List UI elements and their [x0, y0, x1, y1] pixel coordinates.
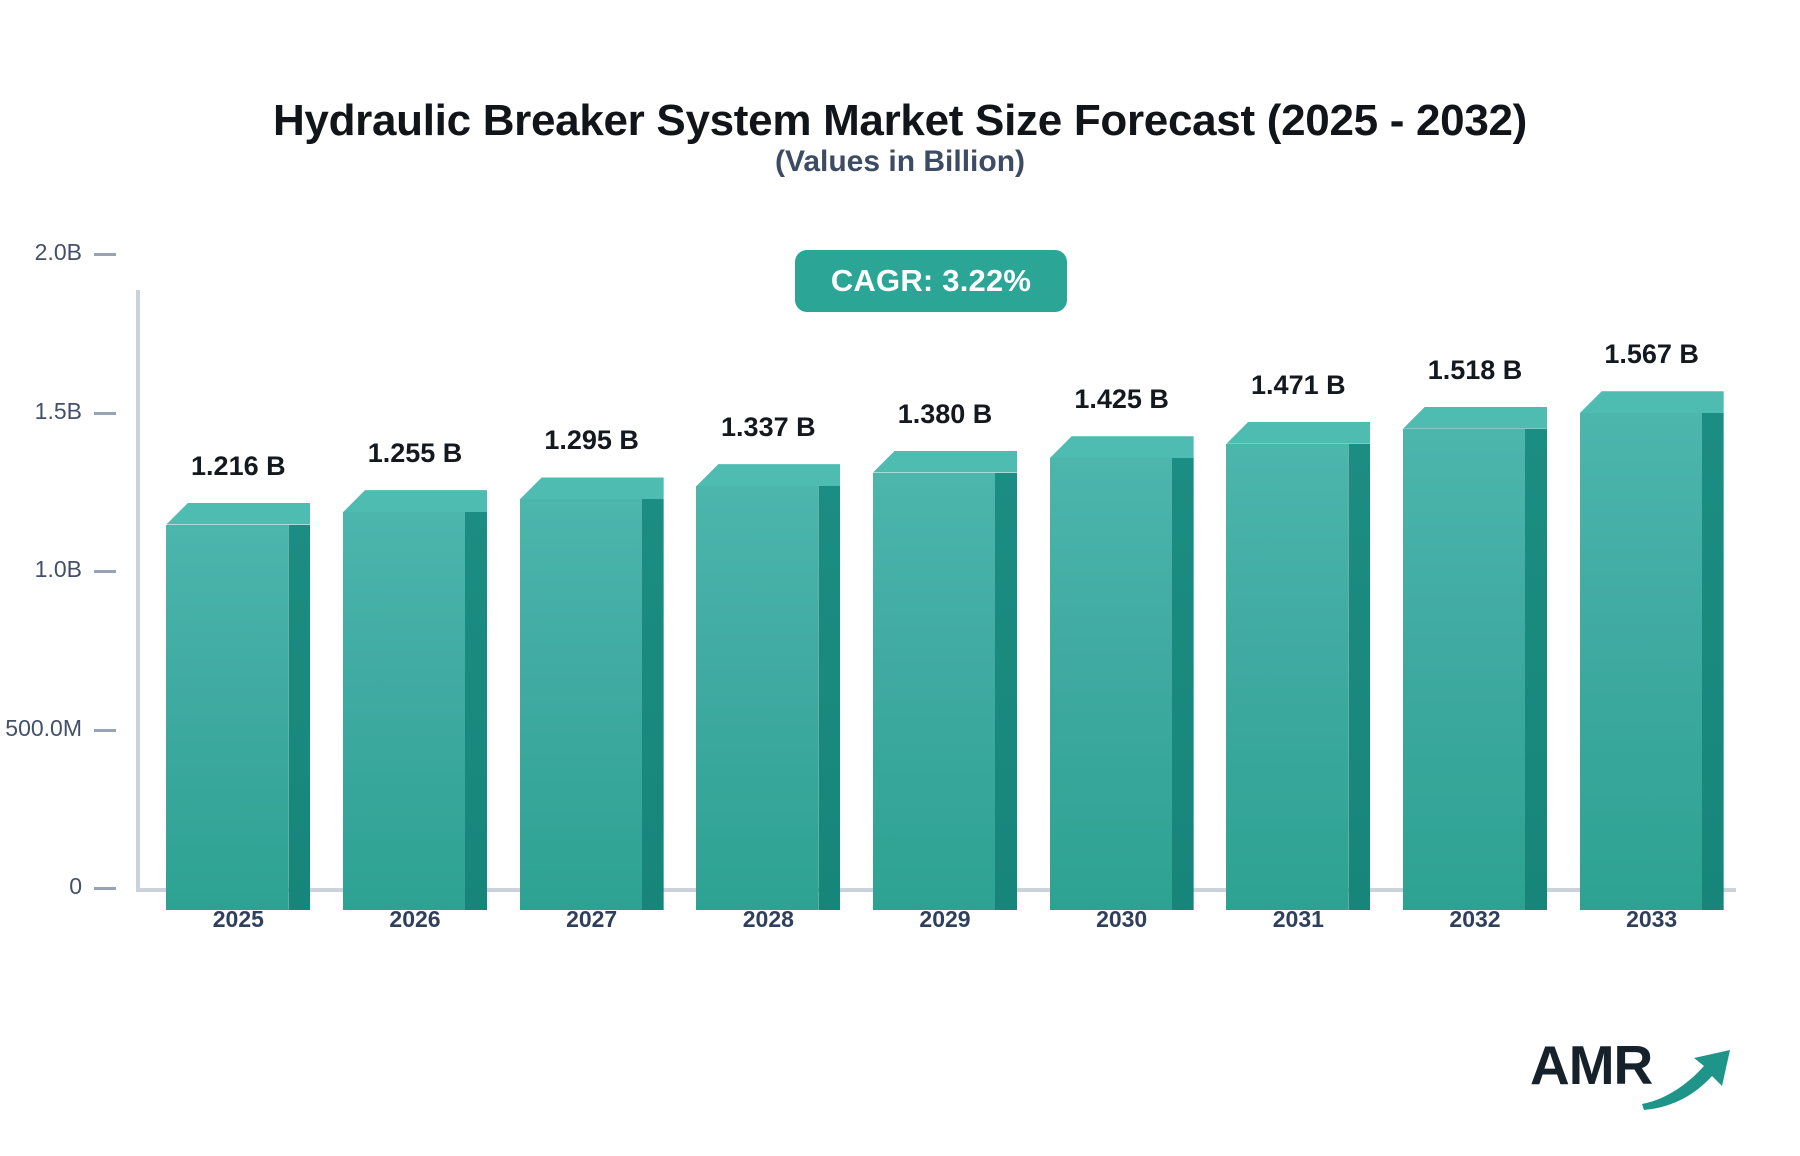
bar-side-face	[1702, 413, 1724, 910]
bar-front-face	[1050, 458, 1172, 910]
chart-canvas: Hydraulic Breaker System Market Size For…	[0, 0, 1800, 1156]
bar-top-face	[343, 490, 487, 512]
bar-side-face	[995, 473, 1017, 910]
bar-front-face	[1403, 429, 1525, 910]
x-axis-tick-label: 2027	[512, 906, 672, 933]
bar-value-label: 1.295 B	[492, 425, 692, 456]
bar-front-face	[873, 473, 995, 910]
bar-top-face	[696, 464, 840, 486]
x-axis-tick-label: 2031	[1218, 906, 1378, 933]
bar-side-face	[288, 525, 310, 910]
x-axis-tick-label: 2025	[158, 906, 318, 933]
bar-top-face	[1226, 422, 1370, 444]
growth-arrow-icon	[1638, 1042, 1734, 1112]
bar-top-face	[1050, 436, 1194, 458]
bar-front-face	[1226, 444, 1348, 910]
bar-side-face	[642, 499, 664, 910]
bar-value-label: 1.216 B	[138, 451, 338, 482]
bar-side-face	[1348, 444, 1370, 910]
bar-front-face	[1580, 413, 1702, 910]
plot-area: 0500.0M1.0B1.5B2.0B 1.216 B1.255 B1.295 …	[0, 0, 1800, 1156]
bar-value-label: 1.255 B	[315, 438, 515, 469]
bar[interactable]	[1050, 436, 1194, 888]
bar[interactable]	[873, 451, 1017, 888]
x-axis-tick-label: 2029	[865, 906, 1025, 933]
y-axis-tick-mark	[94, 253, 116, 256]
bar-value-label: 1.471 B	[1198, 370, 1398, 401]
y-axis-tick-label: 0	[0, 873, 82, 900]
bar-side-face	[1172, 458, 1194, 910]
bar-front-face	[520, 499, 642, 910]
bar-side-face	[465, 512, 487, 910]
x-axis-tick-label: 2028	[688, 906, 848, 933]
x-axis-tick-label: 2026	[335, 906, 495, 933]
bar-side-face	[1525, 429, 1547, 910]
bar-top-face	[166, 503, 310, 525]
bar-front-face	[166, 525, 288, 910]
y-axis-line	[136, 290, 140, 890]
amr-logo-text: AMR	[1530, 1038, 1652, 1093]
y-axis-tick-mark	[94, 570, 116, 573]
bar-value-label: 1.380 B	[845, 399, 1045, 430]
bar-front-face	[343, 512, 465, 910]
bar-top-face	[1403, 407, 1547, 429]
x-axis-tick-label: 2032	[1395, 906, 1555, 933]
y-axis-tick-label: 1.5B	[0, 398, 82, 425]
bar[interactable]	[343, 490, 487, 888]
bar-front-face	[696, 486, 818, 910]
bar-value-label: 1.518 B	[1375, 355, 1575, 386]
amr-logo: AMR	[1530, 1032, 1730, 1112]
bar-top-face	[1580, 391, 1724, 413]
y-axis-tick-mark	[94, 887, 116, 890]
bar[interactable]	[1226, 422, 1370, 888]
y-axis-tick-label: 500.0M	[0, 715, 82, 742]
bar[interactable]	[696, 464, 840, 888]
bar-value-label: 1.425 B	[1022, 384, 1222, 415]
bar[interactable]	[166, 503, 310, 888]
bar[interactable]	[520, 477, 664, 888]
bar-value-label: 1.567 B	[1552, 339, 1752, 370]
bar[interactable]	[1403, 407, 1547, 888]
bar-top-face	[520, 477, 664, 499]
x-axis-tick-label: 2033	[1572, 906, 1732, 933]
bar-value-label: 1.337 B	[668, 412, 868, 443]
y-axis-tick-mark	[94, 729, 116, 732]
x-axis-tick-label: 2030	[1042, 906, 1202, 933]
y-axis-tick-mark	[94, 412, 116, 415]
bar-side-face	[818, 486, 840, 910]
bar-top-face	[873, 451, 1017, 473]
y-axis-tick-label: 2.0B	[0, 239, 82, 266]
y-axis-tick-label: 1.0B	[0, 556, 82, 583]
bar[interactable]	[1580, 391, 1724, 888]
